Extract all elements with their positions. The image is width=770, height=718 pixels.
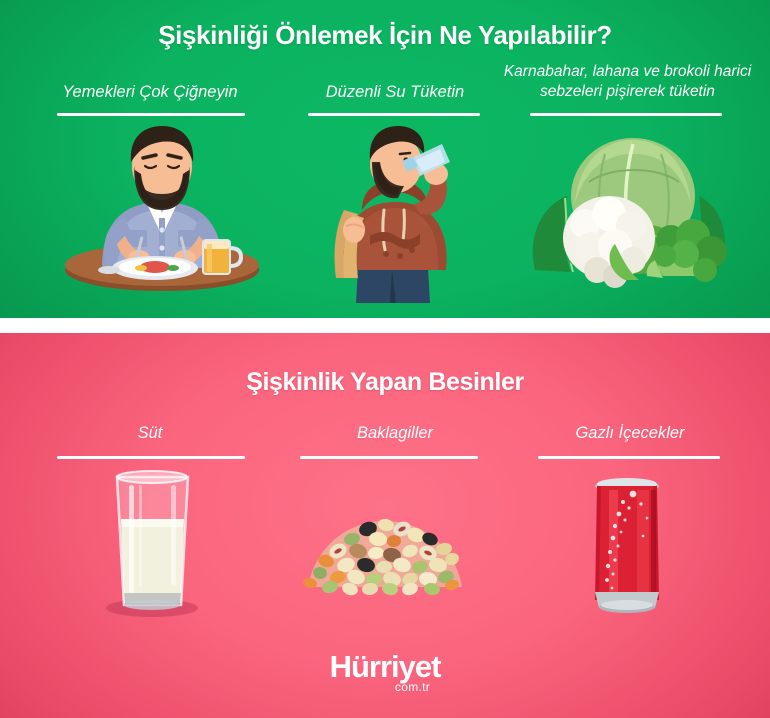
legumes-pile-icon [290, 495, 480, 605]
green-column-rule-2 [308, 113, 480, 116]
green-column-label-2: Düzenli Su Tüketin [285, 82, 505, 102]
glass-of-milk-icon [85, 465, 220, 620]
pink-column-label-3: Gazlı İçecekler [505, 423, 755, 443]
logo-wordmark: Hürriyet [0, 650, 770, 683]
man-drinking-water-icon [300, 118, 490, 303]
pink-column-label-1: Süt [25, 423, 275, 443]
soda-can-icon [565, 468, 690, 623]
green-column-label-3: Karnabahar, lahana ve brokoli harici seb… [490, 62, 765, 102]
man-eating-meal-icon [55, 118, 270, 303]
pink-section-title: Şişkinlik Yapan Besinler [0, 367, 770, 397]
infographic-root: Şişkinliği Önlemek İçin Ne Yapılabilir? … [0, 0, 770, 718]
green-column-label-1: Yemekleri Çok Çiğneyin [25, 82, 275, 102]
pink-column-label-2: Baklagiller [270, 423, 520, 443]
green-column-rule-1 [57, 113, 245, 116]
green-section-title: Şişkinliği Önlemek İçin Ne Yapılabilir? [0, 20, 770, 50]
cabbage-cauliflower-broccoli-icon [505, 120, 755, 305]
hurriyet-logo[interactable]: Hürriyet com.tr [0, 650, 770, 694]
pink-column-rule-3 [538, 456, 720, 459]
green-column-rule-3 [530, 113, 722, 116]
section-divider [0, 318, 770, 333]
pink-column-rule-1 [57, 456, 245, 459]
pink-column-rule-2 [300, 456, 478, 459]
